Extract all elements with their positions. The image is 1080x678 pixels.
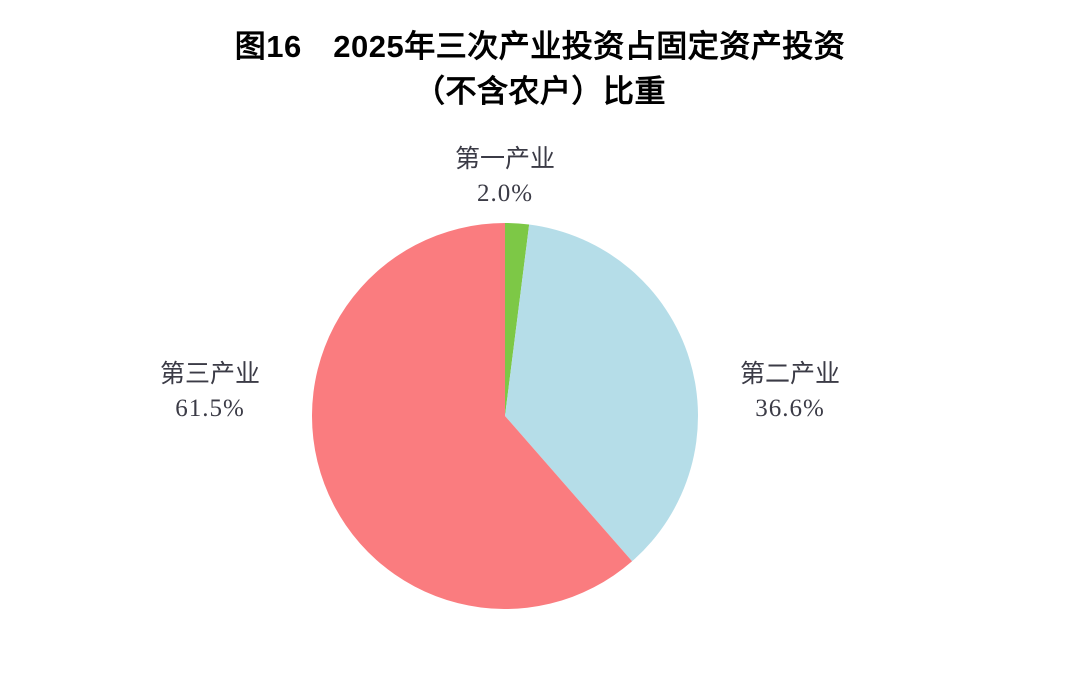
slice-label-tertiary-industry: 第三产业 61.5%: [110, 358, 310, 426]
slice-label-tertiary-industry-name: 第三产业: [110, 358, 310, 392]
slice-label-secondary-industry-name: 第二产业: [690, 358, 890, 392]
slice-label-secondary-industry: 第二产业 36.6%: [690, 358, 890, 426]
pie-chart-svg: [0, 0, 1080, 678]
slice-label-tertiary-industry-value: 61.5%: [110, 392, 310, 426]
pie-chart-area: [0, 0, 1080, 678]
slice-label-primary-industry: 第一产业 2.0%: [405, 143, 605, 211]
slice-label-secondary-industry-value: 36.6%: [690, 392, 890, 426]
pie-chart-figure: 图16 2025年三次产业投资占固定资产投资 （不含农户）比重 第一产业 2.0…: [0, 0, 1080, 678]
slice-label-primary-industry-name: 第一产业: [405, 143, 605, 177]
pie-slice-group: [312, 223, 698, 609]
slice-label-primary-industry-value: 2.0%: [405, 177, 605, 211]
